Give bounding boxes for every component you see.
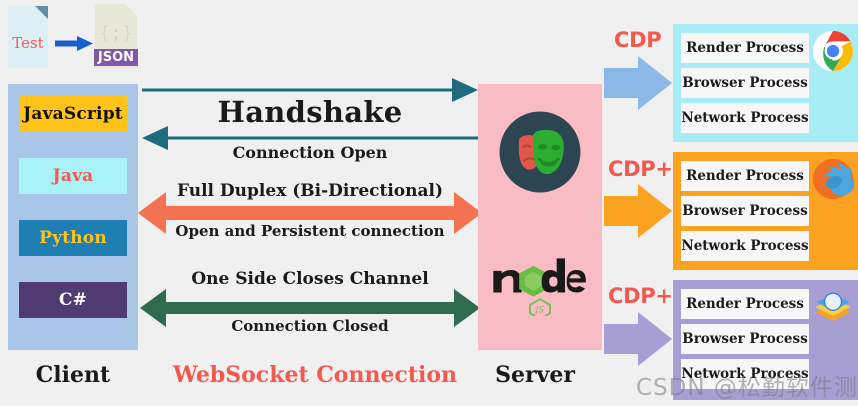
process-box: Network Process xyxy=(681,103,809,133)
diagram-canvas: Test {;} JSON JavaScript Java Python C# … xyxy=(0,0,858,406)
json-document-icon: {;} JSON xyxy=(95,4,137,68)
language-label: Java xyxy=(53,166,94,186)
svg-text:JS: JS xyxy=(534,305,545,316)
browser-block-chrome: Render Process Browser Process Network P… xyxy=(673,24,858,142)
playwright-logo xyxy=(496,108,584,196)
language-box-csharp: C# xyxy=(19,282,127,318)
language-label: JavaScript xyxy=(23,104,123,124)
page-fold-corner-icon xyxy=(125,4,137,16)
language-box-java: Java xyxy=(19,158,127,194)
client-panel: JavaScript Java Python C# xyxy=(8,84,138,350)
process-box: Browser Process xyxy=(681,68,809,98)
test-to-json-arrow-icon xyxy=(55,36,93,51)
cdp-arrow-safari-icon xyxy=(604,312,672,366)
process-box: Render Process xyxy=(681,33,809,63)
websocket-connection-title: WebSocket Connection xyxy=(150,362,480,388)
process-box: Browser Process xyxy=(681,324,809,354)
test-document-label: Test xyxy=(8,34,48,52)
process-box: Render Process xyxy=(681,161,809,191)
firefox-logo xyxy=(812,158,854,200)
cdp-arrow-firefox-icon xyxy=(604,184,672,238)
cdp-protocol-label-chrome: CDP xyxy=(614,28,661,52)
client-label: Client xyxy=(8,362,138,388)
one-side-closes-label: One Side Closes Channel xyxy=(150,269,470,289)
csdn-watermark: CSDN @松勤软件测试 xyxy=(636,368,858,402)
language-box-javascript: JavaScript xyxy=(19,96,127,132)
cdp-protocol-label-firefox: CDP+ xyxy=(608,157,673,181)
chrome-logo xyxy=(812,30,854,72)
test-document-icon: Test xyxy=(8,6,48,68)
cdp-protocol-label-safari: CDP+ xyxy=(608,284,673,308)
language-label: Python xyxy=(39,228,107,248)
language-box-python: Python xyxy=(19,220,127,256)
page-fold-corner-icon xyxy=(35,6,48,19)
process-box: Render Process xyxy=(681,289,809,319)
nodejs-logo: JS xyxy=(490,254,590,316)
connection-open-label: Connection Open xyxy=(150,143,470,162)
server-label: Server xyxy=(470,362,600,388)
json-braces-glyph: {;} xyxy=(95,22,137,44)
process-box: Network Process xyxy=(681,231,809,261)
connection-closed-label: Connection Closed xyxy=(150,317,470,335)
full-duplex-label: Full Duplex (Bi-Directional) xyxy=(150,181,470,201)
handshake-title: Handshake xyxy=(150,95,470,129)
safari-logo xyxy=(812,286,854,328)
server-panel: JS xyxy=(478,84,602,350)
language-label: C# xyxy=(59,290,87,310)
cdp-arrow-chrome-icon xyxy=(604,56,672,110)
process-box: Browser Process xyxy=(681,196,809,226)
browser-block-firefox: Render Process Browser Process Network P… xyxy=(673,152,858,270)
persistent-connection-label: Open and Persistent connection xyxy=(150,222,470,240)
json-format-tag: JSON xyxy=(94,49,138,66)
